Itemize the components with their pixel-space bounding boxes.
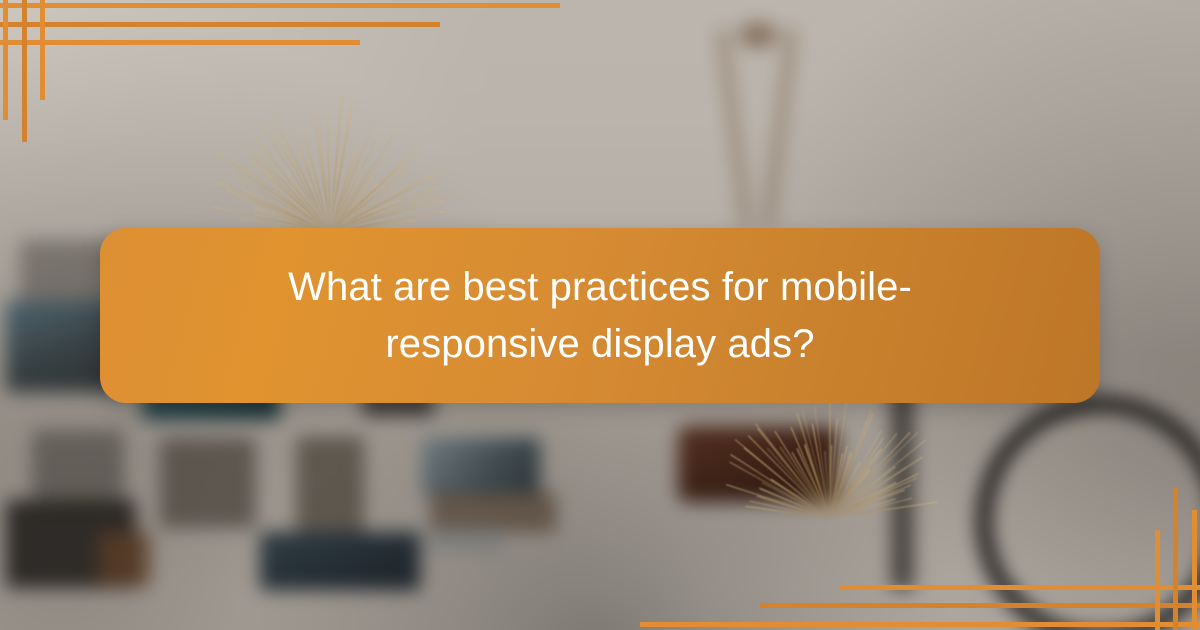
question-banner: What are best practices for mobile-respo… bbox=[100, 228, 1100, 403]
corner-line-br-h3 bbox=[840, 585, 1200, 590]
corner-line-tl-v3 bbox=[40, 0, 45, 100]
corner-line-tl-v2 bbox=[22, 0, 27, 142]
corner-line-tl-v1 bbox=[3, 0, 8, 120]
pampas-spray-right bbox=[660, 398, 1000, 518]
question-text: What are best practices for mobile-respo… bbox=[200, 259, 1000, 373]
social-share-card: What are best practices for mobile-respo… bbox=[0, 0, 1200, 630]
corner-line-tl-h1 bbox=[0, 3, 560, 8]
corner-line-br-v3 bbox=[1155, 530, 1160, 630]
corner-line-br-v1 bbox=[1192, 510, 1197, 630]
pampas-spray-left bbox=[150, 96, 510, 232]
corner-line-tl-h2 bbox=[0, 22, 440, 27]
corner-line-br-h2 bbox=[760, 603, 1200, 608]
corner-line-tl-h3 bbox=[0, 40, 360, 45]
corner-line-br-v2 bbox=[1173, 488, 1178, 630]
corner-line-br-h1 bbox=[640, 622, 1200, 627]
